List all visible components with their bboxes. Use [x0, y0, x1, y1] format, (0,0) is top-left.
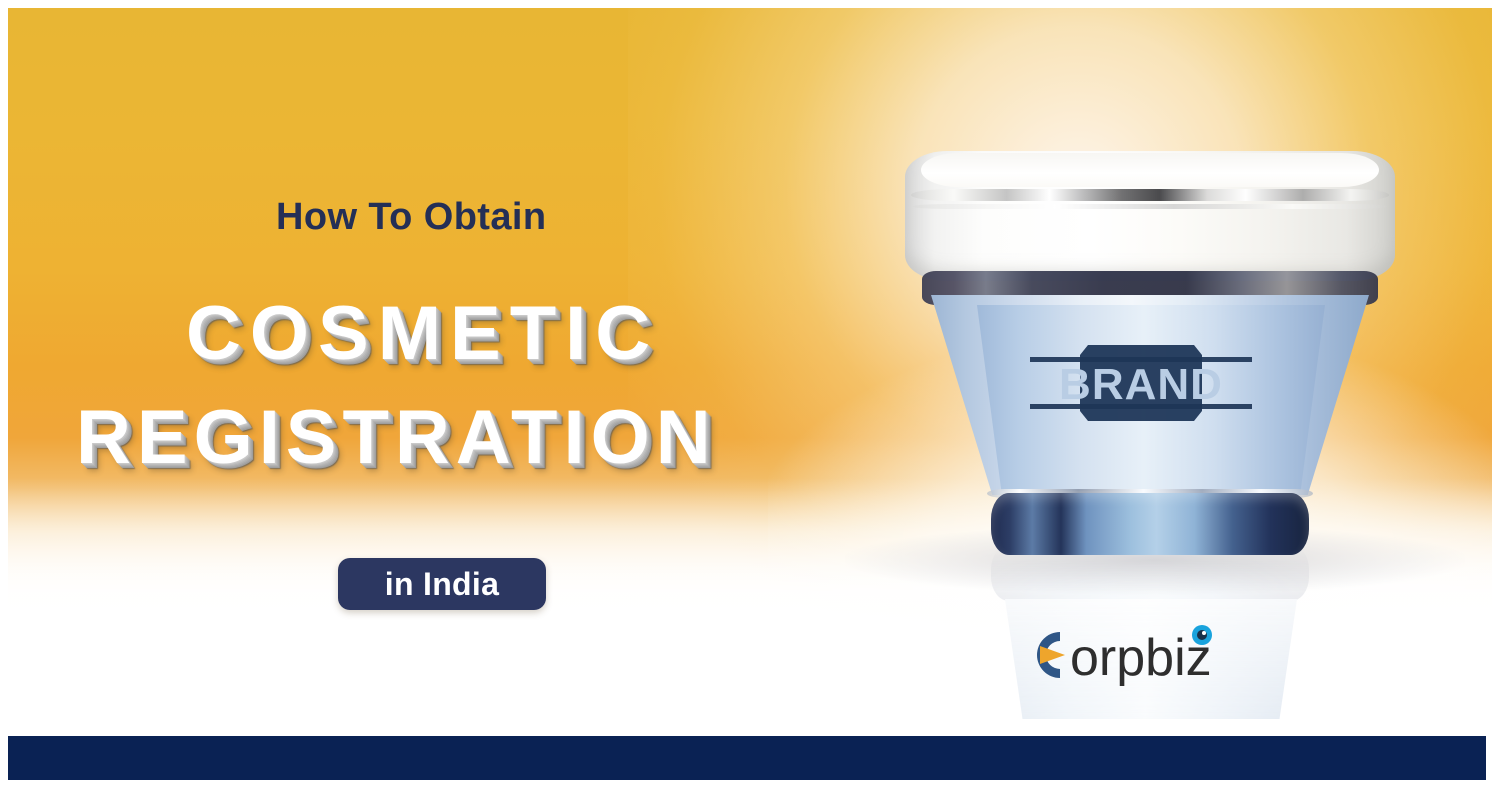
brand-emblem-icon: BRAND	[1030, 341, 1252, 425]
country-badge-label: in India	[338, 558, 546, 610]
cosmetic-registration-banner: How To Obtain COSMETIC REGISTRATION in I…	[0, 0, 1500, 788]
bottom-accent-bar	[8, 736, 1486, 780]
logo-arrow-icon	[1040, 646, 1065, 664]
brand-emblem-text: BRAND	[1059, 360, 1223, 409]
jar-base	[991, 493, 1309, 555]
jar-lid-secondary-ring	[913, 204, 1387, 209]
jar-lid-top-surface	[921, 153, 1379, 187]
country-badge: in India	[338, 558, 546, 610]
headline-title-line-1: COSMETIC	[186, 296, 659, 372]
cosmetic-jar-image: BRAND	[895, 145, 1405, 545]
jar-lid-metallic-ring	[911, 189, 1389, 201]
headline-title-line-2: REGISTRATION	[76, 400, 717, 476]
corpbiz-logo-icon: orpbiz	[1018, 620, 1270, 690]
logo-wordmark: orpbiz	[1070, 629, 1212, 687]
jar-lid	[905, 151, 1395, 281]
headline-kicker: How To Obtain	[276, 196, 546, 239]
